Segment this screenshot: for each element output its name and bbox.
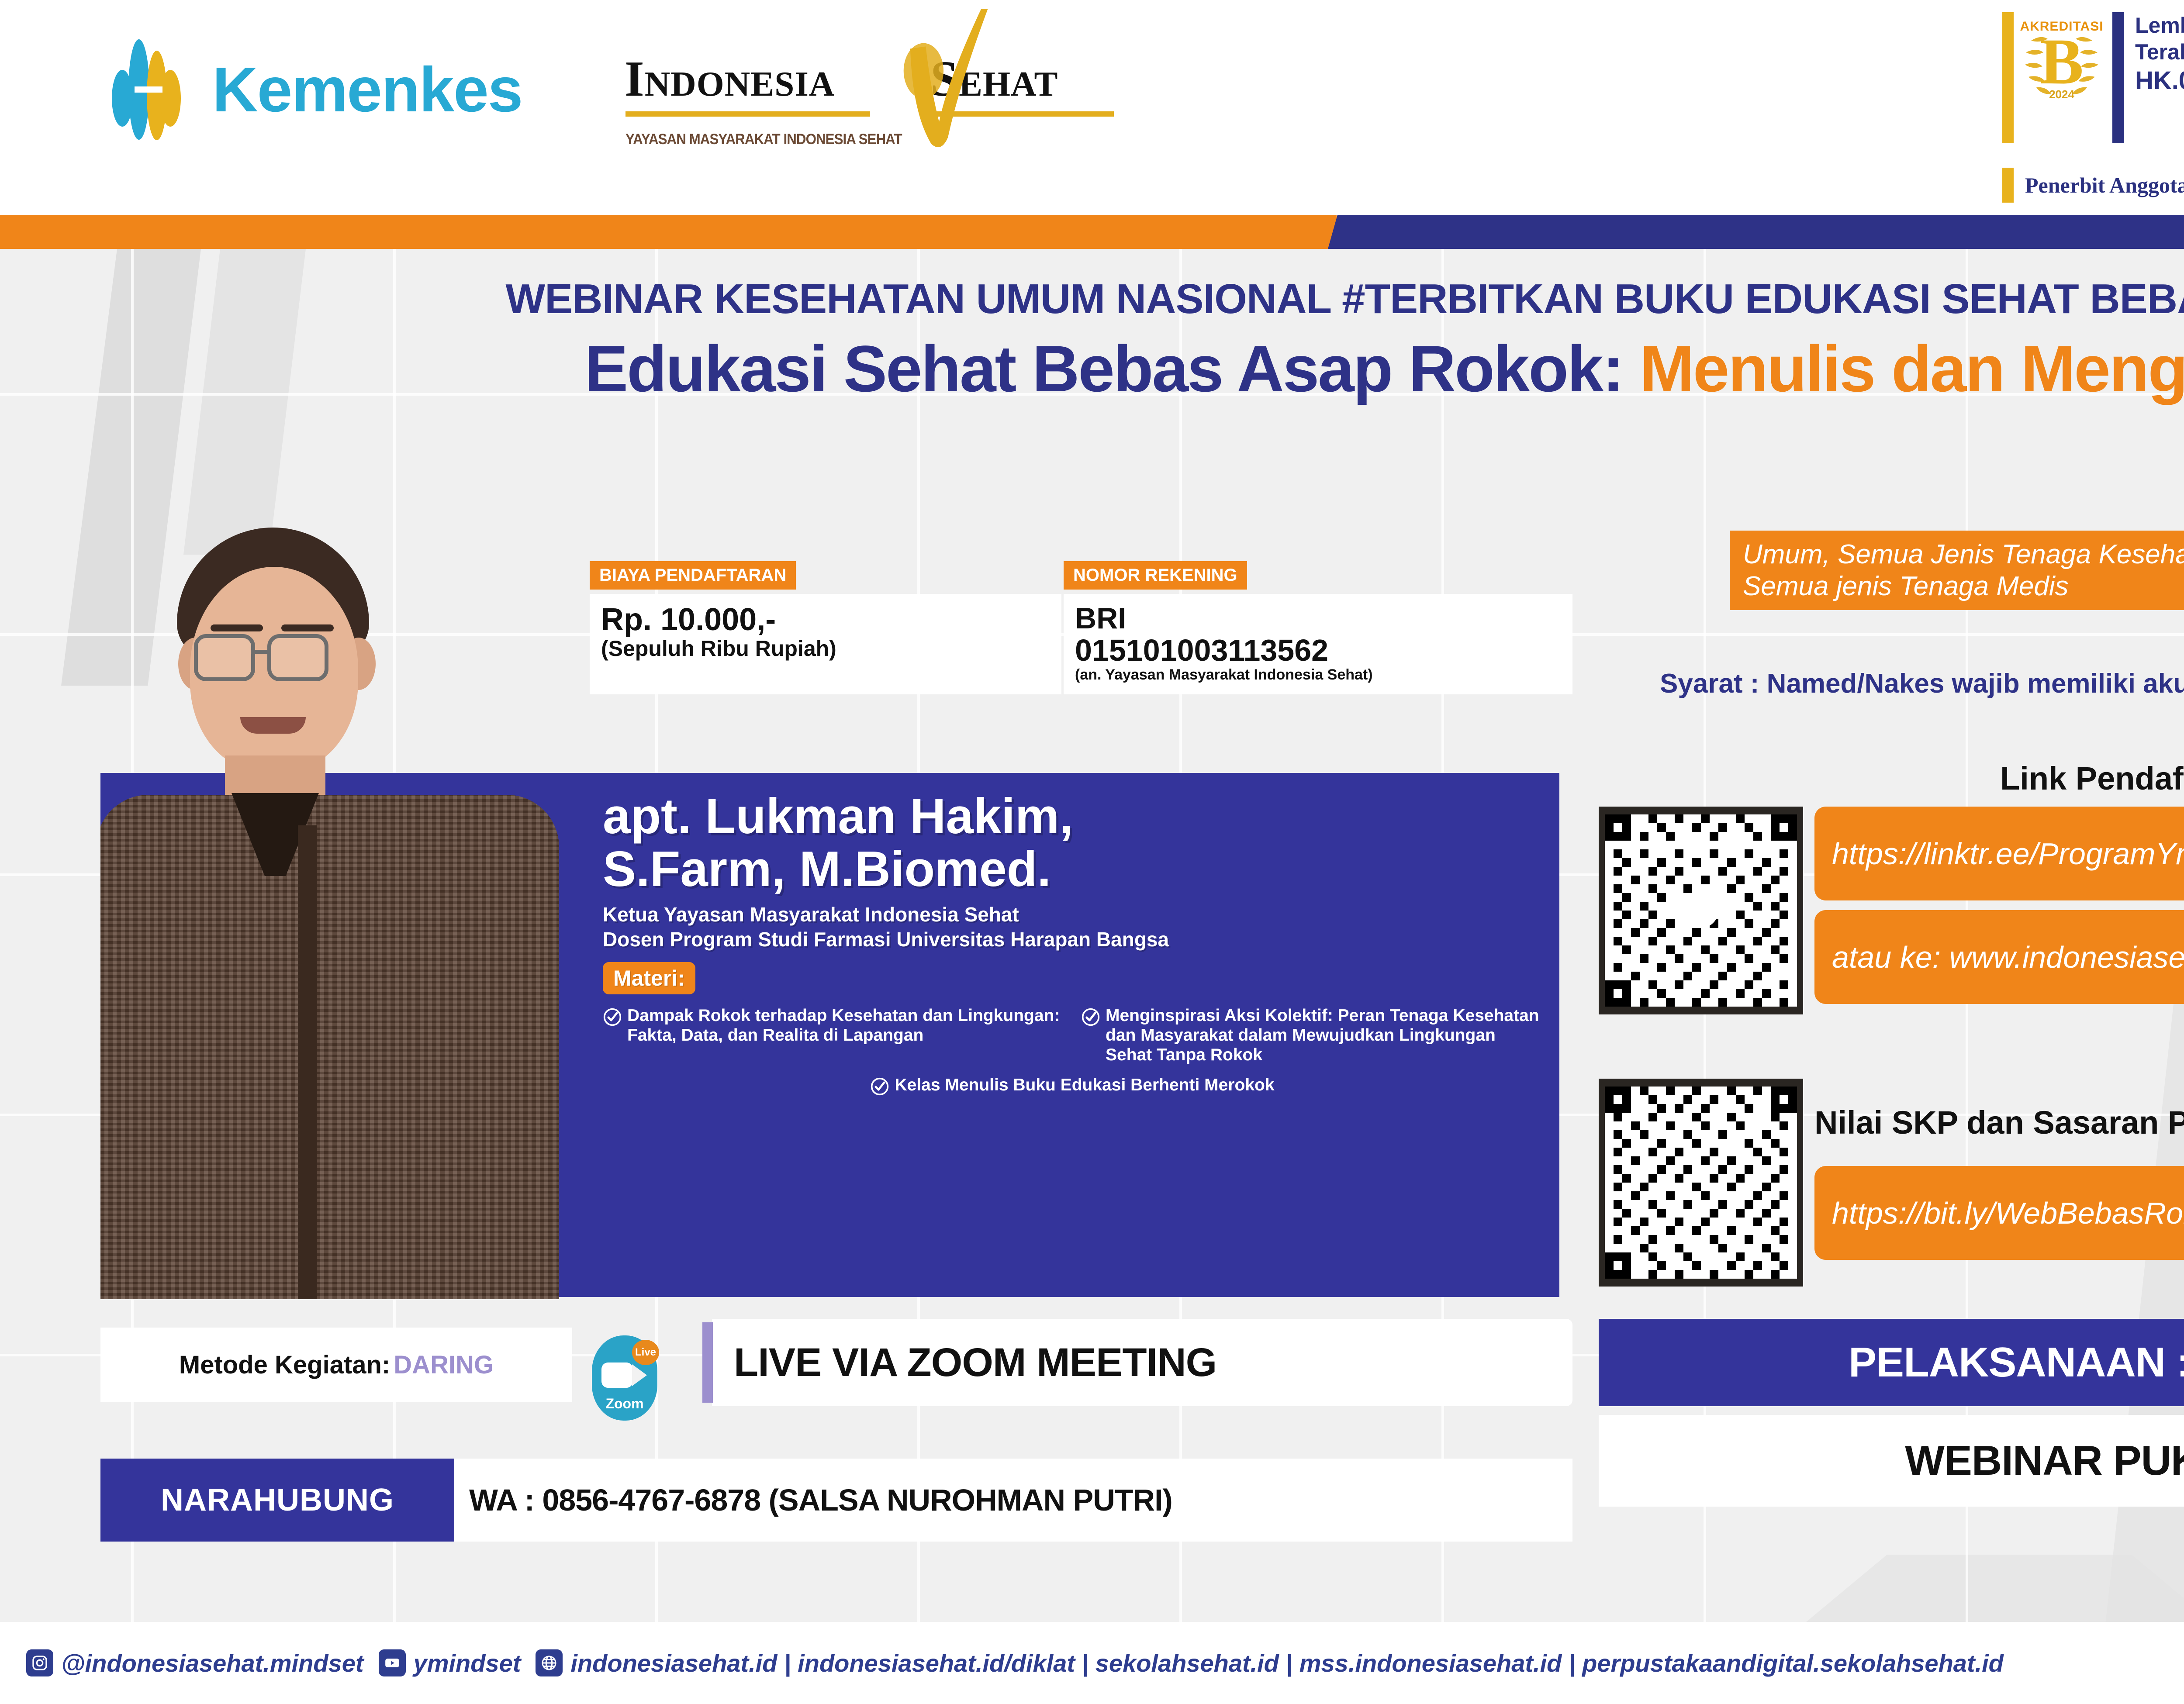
accreditation-line-1: Lembaga Penyelenggara Pelatihan Bidang K… — [2135, 12, 2184, 39]
fee-card: BIAYA PENDAFTARAN Rp. 10.000,- (Sepuluh … — [590, 561, 1061, 694]
accreditation-badge-year: 2024 — [2049, 88, 2074, 101]
platform-card: LIVE VIA ZOOM MEETING — [712, 1319, 1572, 1406]
account-tag-label: NOMOR REKENING — [1064, 561, 1247, 590]
contact-card: NARAHUBUNG WA : 0856-4767-6878 (SALSA NU… — [100, 1459, 1572, 1542]
skp-heading: Nilai SKP dan Sasaran Peserta — [1814, 1104, 2184, 1141]
poster-eyebrow-title: WEBINAR KESEHATAN UMUM NASIONAL #TERBITK… — [0, 275, 2184, 323]
poster-footer: @indonesiasehat.mindset ymindset indones… — [0, 1622, 2184, 1704]
speaker-role-1: Ketua Yayasan Masyarakat Indonesia Sehat — [603, 902, 1542, 928]
registration-link-secondary[interactable]: atau ke: www.indonesiasehat.id/agenda/ — [1814, 910, 2184, 1004]
registration-heading: Link Pendaftaran Atau Scan QR Code: — [1599, 760, 2184, 797]
check-circle-icon — [603, 1007, 622, 1027]
webinar-poster: Kemenkes Indonesia Sehat YAYASAN MASYARA… — [0, 0, 2184, 1704]
accred-blue-bar — [2112, 12, 2124, 143]
skp-qr-code[interactable] — [1599, 1079, 1803, 1287]
accreditation-badge-icon: AKREDITASI B 2024 — [2014, 12, 2110, 104]
ikapi-row: Penerbit Anggota IKAPI, No Anggota: 240/… — [2002, 168, 2184, 203]
video-camera-icon — [601, 1363, 633, 1388]
materi-item-text: Menginspirasi Aksi Kolektif: Peran Tenag… — [1106, 1006, 1542, 1065]
speaker-role-2: Dosen Program Studi Farmasi Universitas … — [603, 927, 1542, 952]
materi-item-text: Dampak Rokok terhadap Kesehatan dan Ling… — [627, 1006, 1064, 1045]
zoom-logo: Live Zoom — [592, 1335, 657, 1421]
globe-icon — [536, 1649, 563, 1676]
speaker-name-line-2: S.Farm, M.Biomed. — [603, 843, 1542, 896]
method-card: Metode Kegiatan: DARING — [100, 1328, 572, 1402]
registration-qr-code[interactable] — [1599, 807, 1803, 1014]
ikapi-gold-bar — [2002, 168, 2014, 203]
bank-name: BRI — [1075, 604, 1561, 633]
participants-heading: Peserta — [1730, 483, 2184, 523]
participants-block: Peserta Umum, Semua Jenis Tenaga Kesehat… — [1730, 483, 2184, 610]
indonesia-sehat-word-indonesia: Indonesia — [625, 50, 835, 108]
contact-tag-label: NARAHUBUNG — [100, 1459, 454, 1542]
account-card: NOMOR REKENING BRI 015101003113562 (an. … — [1064, 561, 1572, 694]
registration-block: Link Pendaftaran Atau Scan QR Code: — [1599, 760, 2184, 1014]
speaker-name-line-1: apt. Lukman Hakim, — [603, 790, 1542, 843]
schedule-time: WEBINAR PUKUL 08.00 WIB - SELESAI — [1905, 1437, 2184, 1485]
schedule-date: PELAKSANAAN : SABTU, 11 OKTOBER 2025 — [1849, 1338, 2184, 1387]
materi-item: Kelas Menulis Buku Edukasi Berhenti Mero… — [603, 1075, 1542, 1096]
materi-item: Menginspirasi Aksi Kolektif: Peran Tenag… — [1081, 1006, 1542, 1065]
fee-amount-words: (Sepuluh Ribu Rupiah) — [601, 637, 1050, 661]
platform-accent-bar — [702, 1322, 713, 1403]
page-title-main: Edukasi Sehat Bebas Asap Rokok: — [584, 332, 1623, 405]
method-value: DARING — [394, 1350, 494, 1380]
kemenkes-logo: Kemenkes — [109, 39, 522, 140]
zoom-wordmark: Zoom — [592, 1396, 657, 1412]
fee-tag-label: BIAYA PENDAFTARAN — [590, 561, 796, 590]
youtube-icon — [379, 1649, 406, 1676]
materi-tag-label: Materi: — [603, 962, 695, 994]
footer-websites[interactable]: indonesiasehat.id | indonesiasehat.id/di… — [536, 1649, 2003, 1677]
schedule-time-card: WEBINAR PUKUL 08.00 WIB - SELESAI — [1599, 1415, 2184, 1507]
registration-link-primary[interactable]: https://linktr.ee/ProgramYmindset — [1814, 807, 2184, 900]
strip-blue — [1328, 215, 2184, 249]
footer-youtube[interactable]: ymindset — [379, 1649, 521, 1677]
accred-gold-bar — [2002, 12, 2014, 143]
page-title-accent: Menulis dan Menginspirasi — [1640, 332, 2184, 405]
platform-label: LIVE VIA ZOOM MEETING — [712, 1340, 1216, 1386]
participants-line-1: Umum, Semua Jenis Tenaga Kesehatan dan — [1743, 538, 2184, 570]
participants-line-2: Semua jenis Tenaga Medis — [1743, 570, 2184, 602]
poster-header: Kemenkes Indonesia Sehat YAYASAN MASYARA… — [0, 0, 2184, 215]
footer-youtube-handle: ymindset — [414, 1649, 521, 1677]
instagram-icon — [26, 1649, 53, 1676]
ikapi-membership-text: Penerbit Anggota IKAPI, No Anggota: 240/… — [2025, 172, 2184, 198]
check-circle-icon — [1081, 1007, 1100, 1027]
fee-amount: Rp. 10.000,- — [601, 604, 1050, 637]
accreditation-badge-grade: B — [2040, 29, 2084, 94]
video-camera-lens-icon — [632, 1364, 647, 1386]
kemenkes-mark-icon — [109, 39, 197, 140]
accreditation-decree-number: HK.02.02/F/3078/2024 — [2135, 66, 2184, 97]
footer-instagram[interactable]: @indonesiasehat.mindset — [26, 1649, 364, 1677]
indonesia-sehat-subtitle: YAYASAN MASYARAKAT INDONESIA SEHAT — [625, 131, 902, 148]
participants-box: Umum, Semua Jenis Tenaga Kesehatan dan S… — [1730, 531, 2184, 610]
strip-orange — [0, 215, 1337, 249]
check-circle-icon — [870, 1077, 889, 1096]
accreditation-block: AKREDITASI B 2024 Lembaga Penyelenggara … — [2002, 12, 2184, 204]
footer-instagram-handle: @indonesiasehat.mindset — [61, 1649, 364, 1677]
bank-account-number: 015101003113562 — [1075, 635, 1561, 666]
skp-block: Nilai SKP dan Sasaran Peserta https://bi… — [1599, 1079, 2184, 1287]
bank-account-owner: (an. Yayasan Masyarakat Indonesia Sehat) — [1075, 666, 1561, 683]
speaker-photo — [100, 520, 559, 1299]
accreditation-line-2: Terakreditasi B oleh Kementrian Kesehata… — [2135, 39, 2184, 66]
schedule-date-card: PELAKSANAAN : SABTU, 11 OKTOBER 2025 — [1599, 1319, 2184, 1406]
indonesia-sehat-logo: Indonesia Sehat YAYASAN MASYARAKAT INDON… — [625, 24, 1192, 155]
footer-website-list: indonesiasehat.id | indonesiasehat.id/di… — [570, 1649, 2003, 1677]
title-block: WEBINAR KESEHATAN UMUM NASIONAL #TERBITK… — [0, 275, 2184, 404]
contact-whatsapp[interactable]: WA : 0856-4767-6878 (SALSA NUROHMAN PUTR… — [454, 1459, 1572, 1542]
kemenkes-wordmark: Kemenkes — [212, 58, 522, 121]
materi-item-text: Kelas Menulis Buku Edukasi Berhenti Mero… — [895, 1075, 1274, 1096]
skp-link[interactable]: https://bit.ly/WebBebasRokok — [1814, 1166, 2184, 1260]
method-label: Metode Kegiatan: — [179, 1350, 390, 1380]
materi-item: Dampak Rokok terhadap Kesehatan dan Ling… — [603, 1006, 1064, 1045]
live-badge: Live — [632, 1340, 659, 1365]
materi-list: Dampak Rokok terhadap Kesehatan dan Ling… — [603, 1006, 1542, 1065]
check-swoosh-icon — [885, 7, 998, 151]
header-color-strip — [0, 215, 2184, 249]
participants-requirement: Syarat : Named/Nakes wajib memiliki akun… — [1660, 668, 2184, 699]
